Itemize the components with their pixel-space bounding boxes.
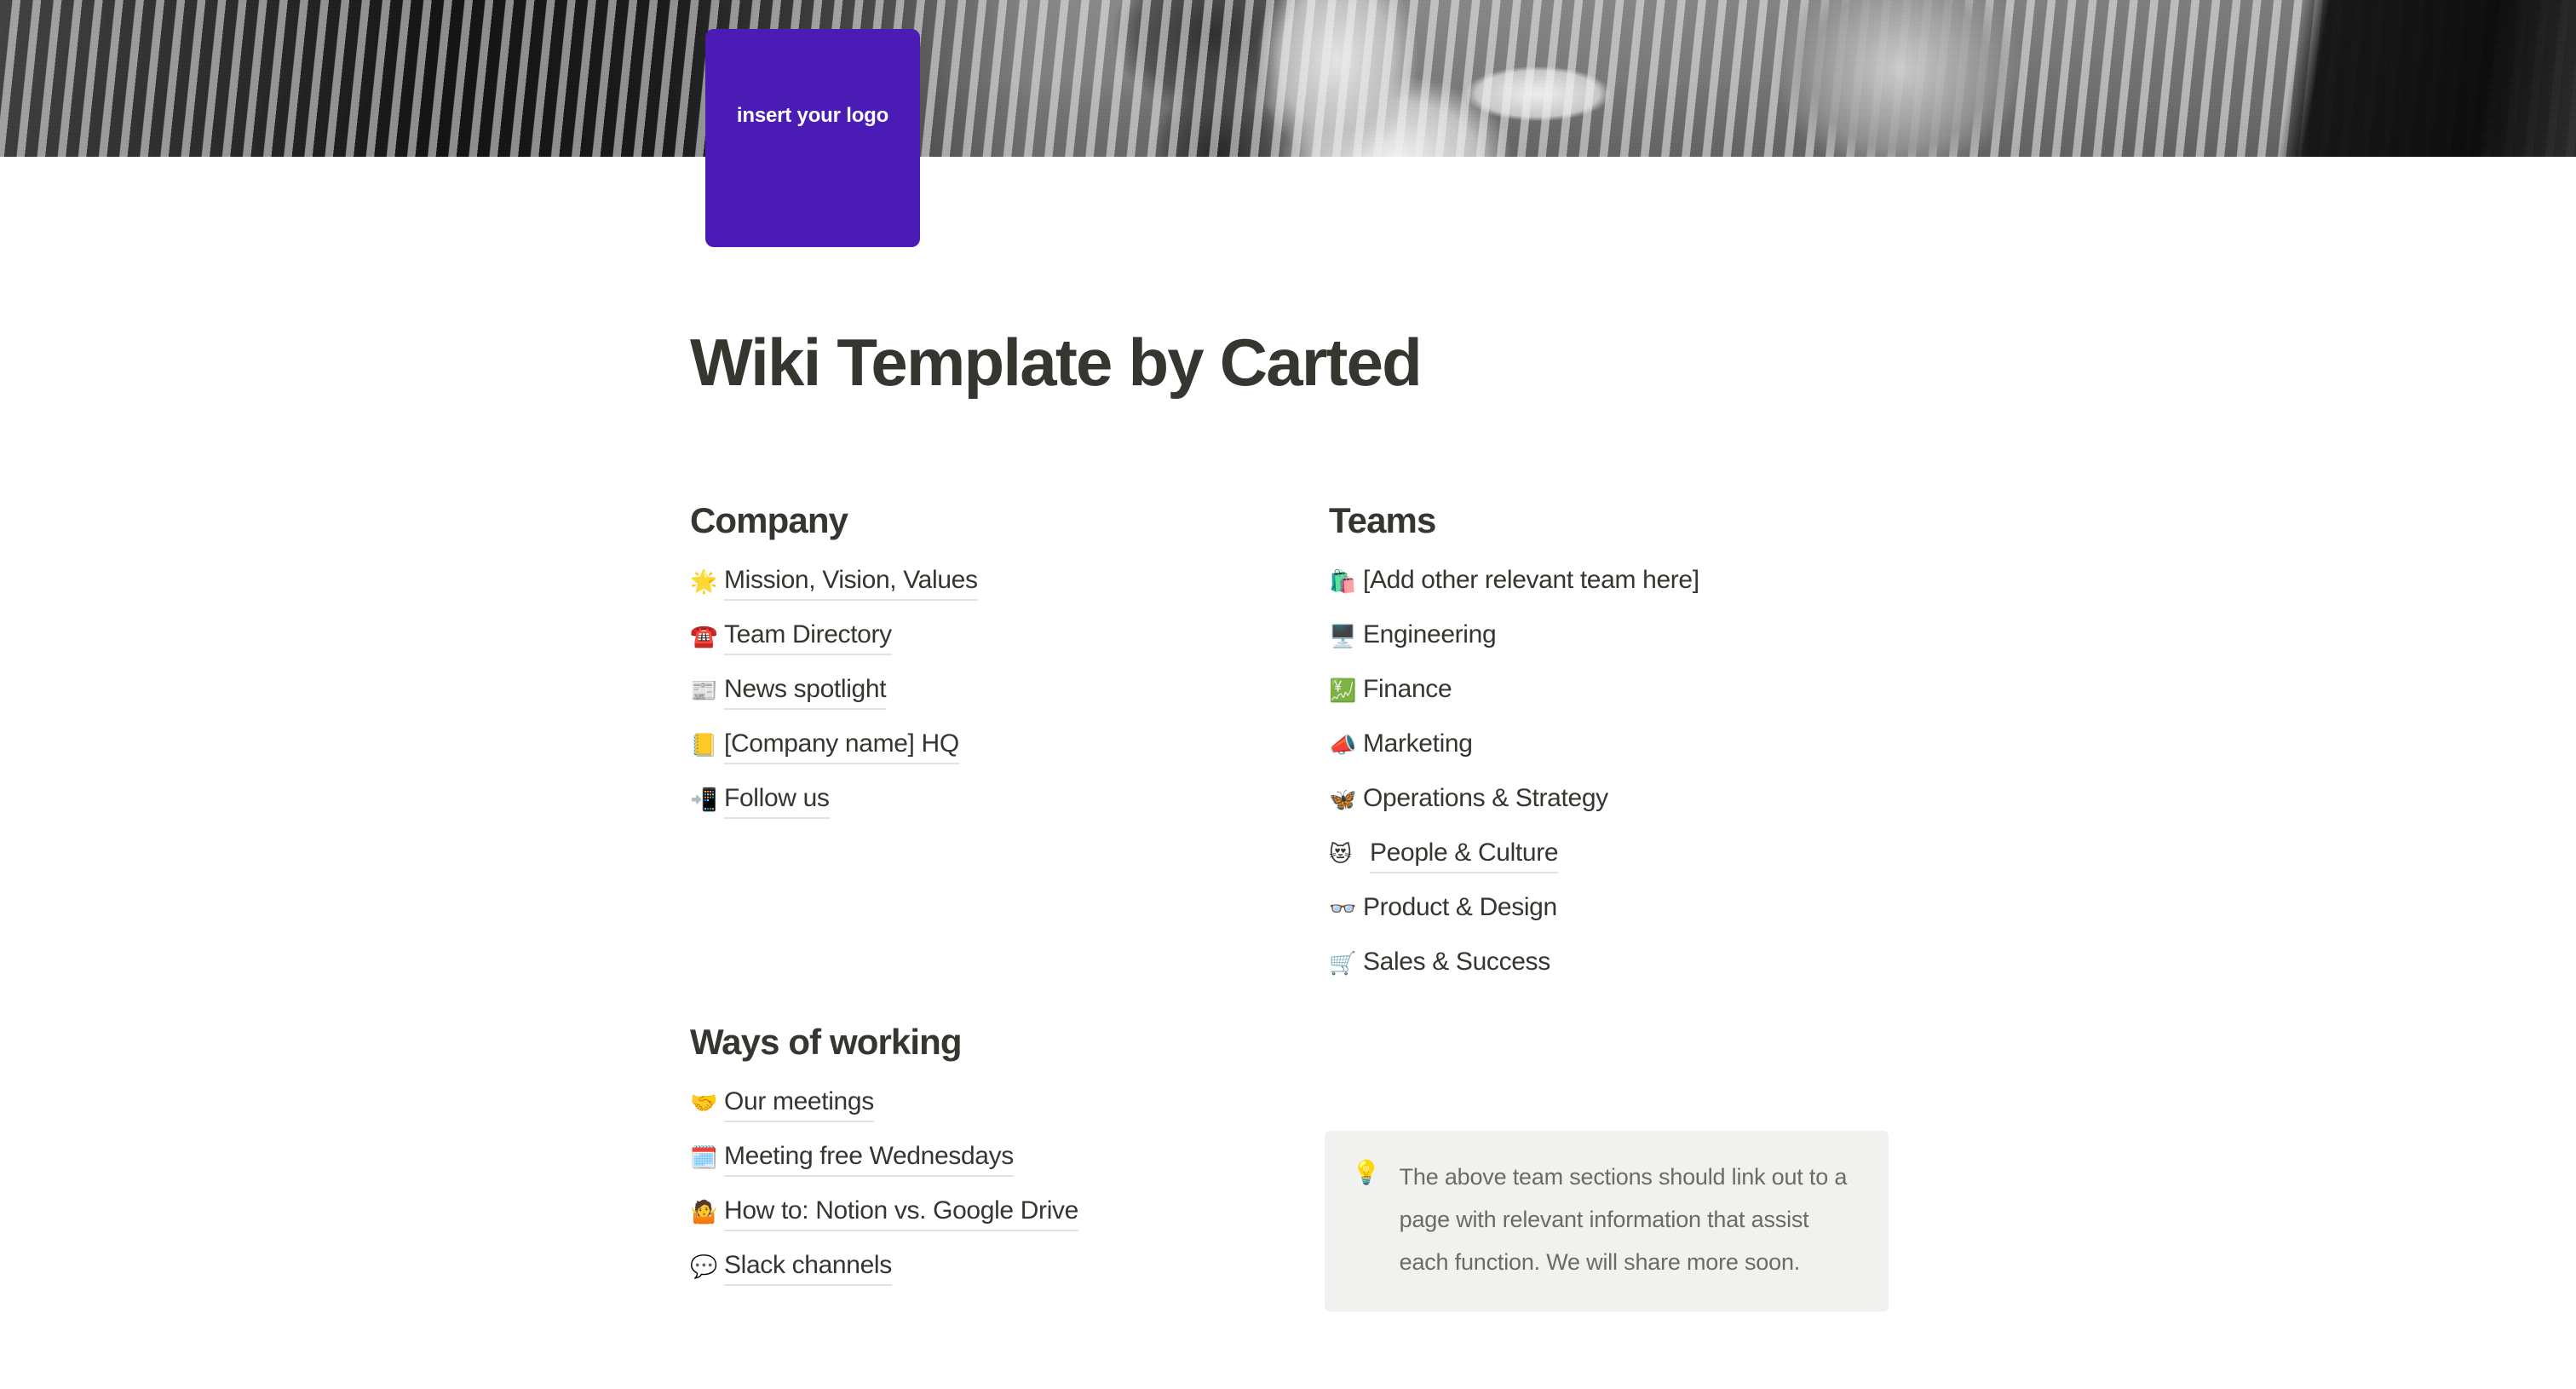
- list-item[interactable]: 📰News spotlight: [690, 673, 1286, 728]
- page-logo[interactable]: insert your logo: [705, 29, 920, 247]
- list-item-label[interactable]: News spotlight: [724, 673, 886, 710]
- ledger-icon: 📒: [690, 735, 724, 757]
- list-item[interactable]: 🤝Our meetings: [690, 1086, 1337, 1140]
- newspaper-icon: 📰: [690, 680, 724, 702]
- list-item[interactable]: 🖥️Engineering: [1329, 619, 1925, 673]
- list-item-label[interactable]: Engineering: [1363, 619, 1496, 654]
- list-item-label[interactable]: Sales & Success: [1363, 946, 1550, 981]
- desktop-computer-icon: 🖥️: [1329, 625, 1363, 648]
- list-item-label[interactable]: Product & Design: [1363, 891, 1557, 926]
- list-item-label[interactable]: Follow us: [724, 782, 830, 819]
- callout-text: The above team sections should link out …: [1400, 1156, 1860, 1284]
- smiling-cat-with-heart-eyes-icon: 😻: [1329, 844, 1370, 866]
- chart-increasing-with-yen-icon: 💹: [1329, 680, 1363, 702]
- list-item[interactable]: 🦋Operations & Strategy: [1329, 782, 1925, 837]
- list-item-label[interactable]: [Company name] HQ: [724, 728, 959, 764]
- callout-box: 💡 The above team sections should link ou…: [1325, 1131, 1889, 1311]
- list-item-label[interactable]: Meeting free Wednesdays: [724, 1140, 1014, 1177]
- list-item[interactable]: 🗓️Meeting free Wednesdays: [690, 1140, 1337, 1195]
- list-item-label[interactable]: Finance: [1363, 673, 1452, 708]
- list-item-label[interactable]: Marketing: [1363, 728, 1473, 763]
- list-item[interactable]: 🛍️[Add other relevant team here]: [1329, 564, 1925, 619]
- list-item-label[interactable]: [Add other relevant team here]: [1363, 564, 1699, 599]
- list-item[interactable]: 📒[Company name] HQ: [690, 728, 1286, 782]
- list-item[interactable]: 👓Product & Design: [1329, 891, 1925, 946]
- shopping-bags-icon: 🛍️: [1329, 571, 1363, 593]
- spiral-calendar-icon: 🗓️: [690, 1147, 724, 1169]
- company-section: Company 🌟Mission, Vision, Values☎️Team D…: [690, 501, 1286, 837]
- list-item[interactable]: ☎️Team Directory: [690, 619, 1286, 673]
- glasses-icon: 👓: [1329, 898, 1363, 920]
- list-item-label[interactable]: People & Culture: [1370, 837, 1558, 873]
- list-item-label[interactable]: Mission, Vision, Values: [724, 564, 978, 601]
- list-item[interactable]: 💬Slack channels: [690, 1249, 1337, 1304]
- ways-of-working-heading: Ways of working: [690, 1023, 1337, 1062]
- company-link-list: 🌟Mission, Vision, Values☎️Team Directory…: [690, 564, 1286, 837]
- list-item[interactable]: 💹Finance: [1329, 673, 1925, 728]
- butterfly-icon: 🦋: [1329, 789, 1363, 811]
- list-item[interactable]: 📲Follow us: [690, 782, 1286, 837]
- teams-heading: Teams: [1329, 501, 1925, 540]
- telephone-icon: ☎️: [690, 625, 724, 648]
- list-item-label[interactable]: How to: Notion vs. Google Drive: [724, 1195, 1078, 1231]
- page-title: Wiki Template by Carted: [690, 328, 1421, 398]
- teams-section: Teams 🛍️[Add other relevant team here]🖥️…: [1329, 501, 1925, 1000]
- megaphone-icon: 📣: [1329, 735, 1363, 757]
- teams-link-list: 🛍️[Add other relevant team here]🖥️Engine…: [1329, 564, 1925, 1000]
- list-item[interactable]: 😻People & Culture: [1329, 837, 1925, 891]
- list-item[interactable]: 🛒Sales & Success: [1329, 946, 1925, 1000]
- list-item[interactable]: 🤷How to: Notion vs. Google Drive: [690, 1195, 1337, 1249]
- cover-grain-overlay: [0, 0, 2576, 157]
- logo-label: insert your logo: [737, 104, 888, 128]
- person-shrugging-icon: 🤷: [690, 1202, 724, 1224]
- glowing-star-icon: 🌟: [690, 571, 724, 593]
- light-bulb-icon: 💡: [1352, 1156, 1381, 1284]
- list-item-label[interactable]: Operations & Strategy: [1363, 782, 1608, 817]
- list-item[interactable]: 📣Marketing: [1329, 728, 1925, 782]
- mobile-phone-with-arrow-icon: 📲: [690, 789, 724, 811]
- shopping-cart-icon: 🛒: [1329, 953, 1363, 975]
- list-item-label[interactable]: Our meetings: [724, 1086, 874, 1122]
- ways-of-working-section: Ways of working 🤝Our meetings🗓️Meeting f…: [690, 1023, 1337, 1304]
- ways-of-working-link-list: 🤝Our meetings🗓️Meeting free Wednesdays🤷H…: [690, 1086, 1337, 1304]
- list-item-label[interactable]: Team Directory: [724, 619, 892, 655]
- cover-image: [0, 0, 2576, 157]
- company-heading: Company: [690, 501, 1286, 540]
- list-item[interactable]: 🌟Mission, Vision, Values: [690, 564, 1286, 619]
- handshake-icon: 🤝: [690, 1092, 724, 1115]
- list-item-label[interactable]: Slack channels: [724, 1249, 892, 1286]
- speech-balloon-icon: 💬: [690, 1256, 724, 1278]
